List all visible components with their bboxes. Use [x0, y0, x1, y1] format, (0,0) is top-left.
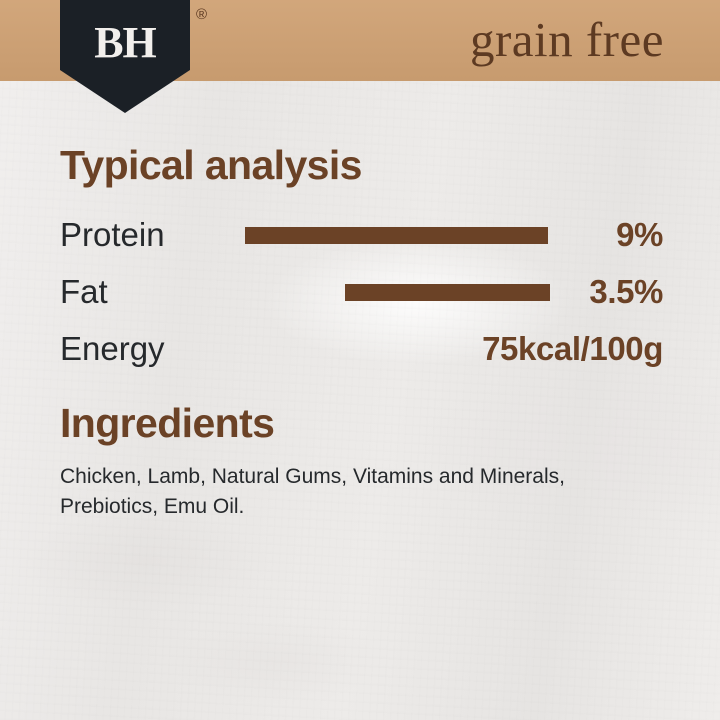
ingredients-heading: Ingredients: [60, 399, 274, 447]
product-label-panel: grain free BH ® Typical analysis Protein…: [0, 0, 720, 720]
analysis-row-label: Fat: [60, 267, 108, 317]
analysis-row-value: 75kcal/100g: [482, 324, 663, 374]
brand-logo-text: BH: [94, 21, 156, 65]
registered-trademark-icon: ®: [196, 6, 207, 23]
analysis-row-label: Energy: [60, 324, 165, 374]
analysis-row-label: Protein: [60, 210, 165, 260]
analysis-row: Energy75kcal/100g: [0, 324, 720, 381]
analysis-row: Protein9%: [0, 210, 720, 267]
analysis-row-bar: [245, 227, 548, 244]
ingredients-body-text: Chicken, Lamb, Natural Gums, Vitamins an…: [60, 462, 605, 522]
analysis-row-value: 3.5%: [589, 267, 663, 317]
analysis-row-value: 9%: [616, 210, 663, 260]
analysis-row: Fat3.5%: [0, 267, 720, 324]
grain-free-tagline: grain free: [470, 4, 664, 76]
typical-analysis-rows: Protein9%Fat3.5%Energy75kcal/100g: [0, 210, 720, 381]
analysis-row-bar: [345, 284, 550, 301]
typical-analysis-heading: Typical analysis: [60, 141, 362, 189]
brand-shield-logo: BH: [60, 0, 190, 113]
